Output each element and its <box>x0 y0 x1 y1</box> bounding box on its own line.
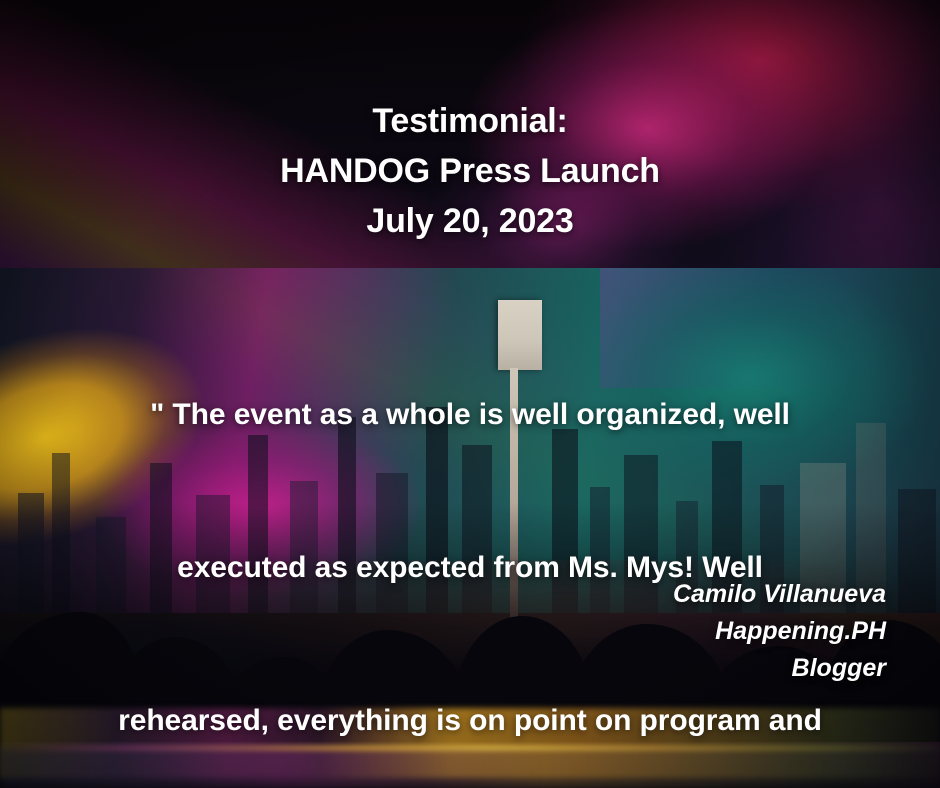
poster-content: Testimonial: HANDOG Press Launch July 20… <box>0 0 940 788</box>
attribution-outlet: Happening.PH <box>673 613 886 650</box>
heading-line-1: Testimonial: <box>0 96 940 146</box>
testimonial-quote: " The event as a whole is well organized… <box>42 287 898 788</box>
heading-line-3: July 20, 2023 <box>0 196 940 246</box>
heading-line-2: HANDOG Press Launch <box>0 146 940 196</box>
poster-heading: Testimonial: HANDOG Press Launch July 20… <box>0 96 940 246</box>
testimonial-poster: Testimonial: HANDOG Press Launch July 20… <box>0 0 940 788</box>
attribution-name: Camilo Villanueva <box>673 576 886 613</box>
quote-line-3: rehearsed, everything is on point on pro… <box>42 695 898 746</box>
attribution-role: Blogger <box>673 650 886 687</box>
quote-line-1: " The event as a whole is well organized… <box>42 389 898 440</box>
quote-attribution: Camilo Villanueva Happening.PH Blogger <box>673 576 886 687</box>
